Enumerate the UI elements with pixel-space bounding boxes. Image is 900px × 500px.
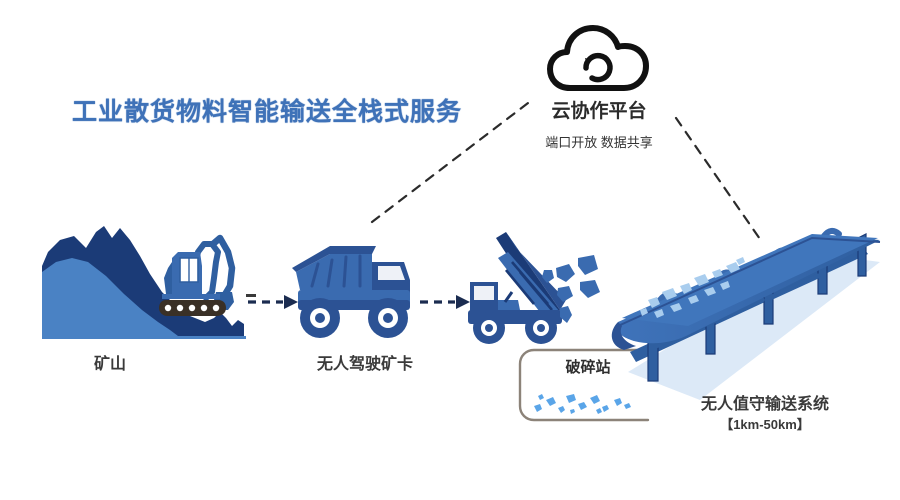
stage-label-truck: 无人驾驶矿卡 xyxy=(295,350,435,374)
dump-truck-unloading-icon xyxy=(468,232,600,344)
cloud-platform-title: 云协作平台 xyxy=(524,96,674,123)
stage-label-mine: 矿山 xyxy=(40,350,180,374)
excavator-icon xyxy=(159,238,256,316)
diagram-canvas: 工业散货物料智能输送全栈式服务 云协作平台 端口开放 数据共享 矿山 无人驾驶矿… xyxy=(0,0,900,500)
cloud-sync-icon xyxy=(550,28,646,88)
page-title: 工业散货物料智能输送全栈式服务 xyxy=(72,92,462,128)
connector-mine-to-truck xyxy=(248,295,298,309)
connector-cloud-to-conveyor xyxy=(676,118,762,242)
stage-label-conveyor-range: 【1km-50km】 xyxy=(665,414,865,433)
mining-truck-icon xyxy=(292,246,410,338)
crushed-fragments xyxy=(534,394,631,414)
belt-conveyor-icon xyxy=(612,231,880,400)
cloud-platform-subtitle: 端口开放 数据共享 xyxy=(514,132,684,151)
stage-label-crusher: 破碎站 xyxy=(548,356,628,377)
connector-truck-to-crusher xyxy=(420,295,470,309)
stage-label-conveyor: 无人值守输送系统 xyxy=(665,390,865,414)
